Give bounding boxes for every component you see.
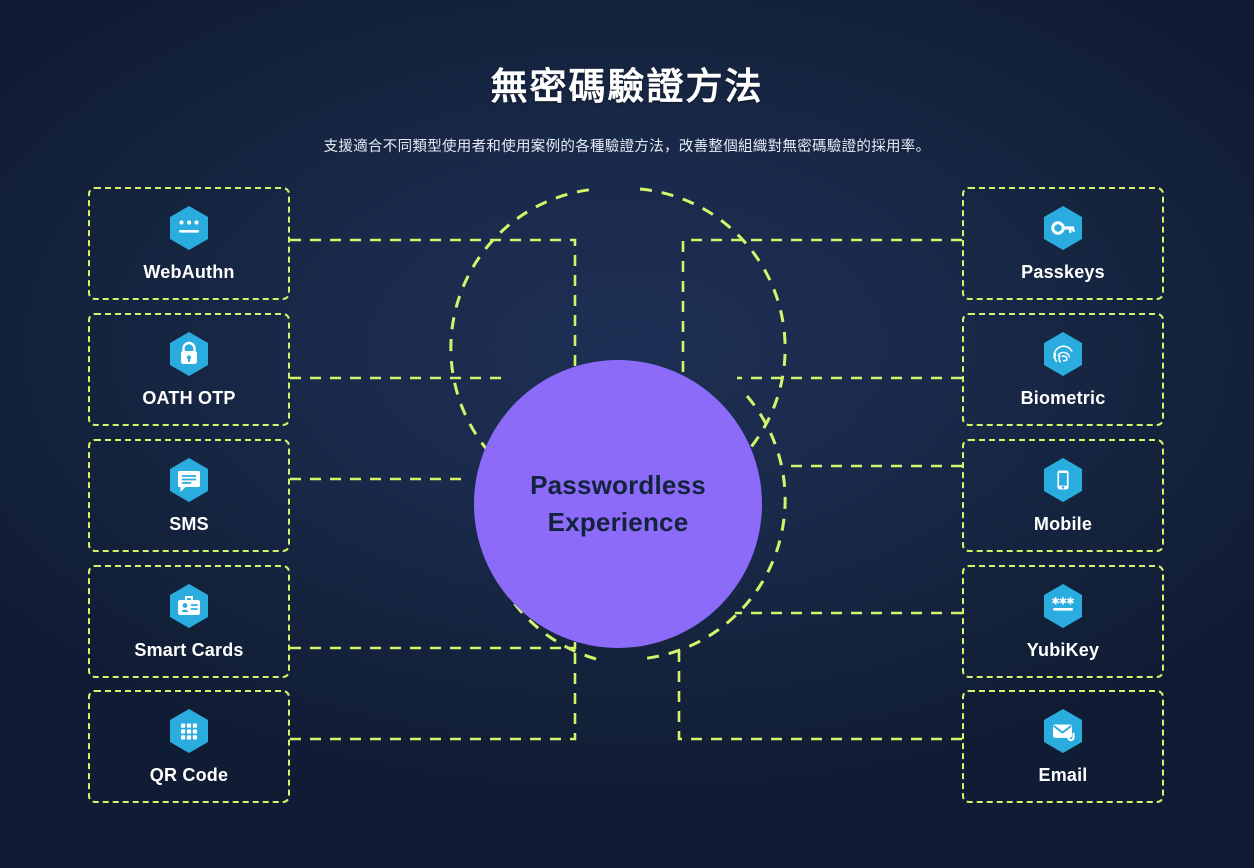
padlock-icon <box>168 331 210 377</box>
method-card-email[interactable]: Email <box>962 690 1164 803</box>
method-card-mobile[interactable]: Mobile <box>962 439 1164 552</box>
envelope-clip-icon <box>1042 708 1084 754</box>
password-asterisks-icon: ✱ ✱ ✱ <box>1042 583 1084 629</box>
center-node-label: Passwordless Experience <box>530 467 706 541</box>
fingerprint-icon <box>1042 331 1084 377</box>
svg-text:✱: ✱ <box>1066 596 1074 607</box>
method-label: Passkeys <box>1021 262 1105 283</box>
password-dots-icon <box>168 205 210 251</box>
method-card-biometric[interactable]: Biometric <box>962 313 1164 426</box>
method-label: YubiKey <box>1027 640 1099 661</box>
method-label: Email <box>1038 765 1087 786</box>
wire-email <box>679 648 962 739</box>
key-icon <box>1042 205 1084 251</box>
center-node[interactable]: Passwordless Experience <box>474 360 762 648</box>
method-card-smart-cards[interactable]: Smart Cards <box>88 565 290 678</box>
method-label: OATH OTP <box>142 388 235 409</box>
chat-bubble-icon <box>168 457 210 503</box>
method-card-passkeys[interactable]: Passkeys <box>962 187 1164 300</box>
center-label-line2: Experience <box>548 507 689 537</box>
wire-passkeys <box>683 240 962 377</box>
wire-qr-code <box>290 648 575 739</box>
method-card-yubikey[interactable]: ✱ ✱ ✱ YubiKey <box>962 565 1164 678</box>
method-card-qr-code[interactable]: QR Code <box>88 690 290 803</box>
method-label: Mobile <box>1034 514 1092 535</box>
diagram-stage: 無密碼驗證方法 支援適合不同類型使用者和使用案例的各種驗證方法，改善整個組織對無… <box>0 0 1254 868</box>
qr-grid-icon <box>168 708 210 754</box>
method-card-oath-otp[interactable]: OATH OTP <box>88 313 290 426</box>
id-badge-icon <box>168 583 210 629</box>
center-label-line1: Passwordless <box>530 470 706 500</box>
method-label: WebAuthn <box>143 262 234 283</box>
wire-smart-cards <box>290 634 575 648</box>
method-card-sms[interactable]: SMS <box>88 439 290 552</box>
method-label: QR Code <box>150 765 228 786</box>
method-card-webauthn[interactable]: WebAuthn <box>88 187 290 300</box>
smartphone-icon <box>1042 457 1084 503</box>
method-label: SMS <box>169 514 209 535</box>
method-label: Biometric <box>1021 388 1106 409</box>
wire-webauthn <box>290 240 575 377</box>
method-label: Smart Cards <box>134 640 243 661</box>
